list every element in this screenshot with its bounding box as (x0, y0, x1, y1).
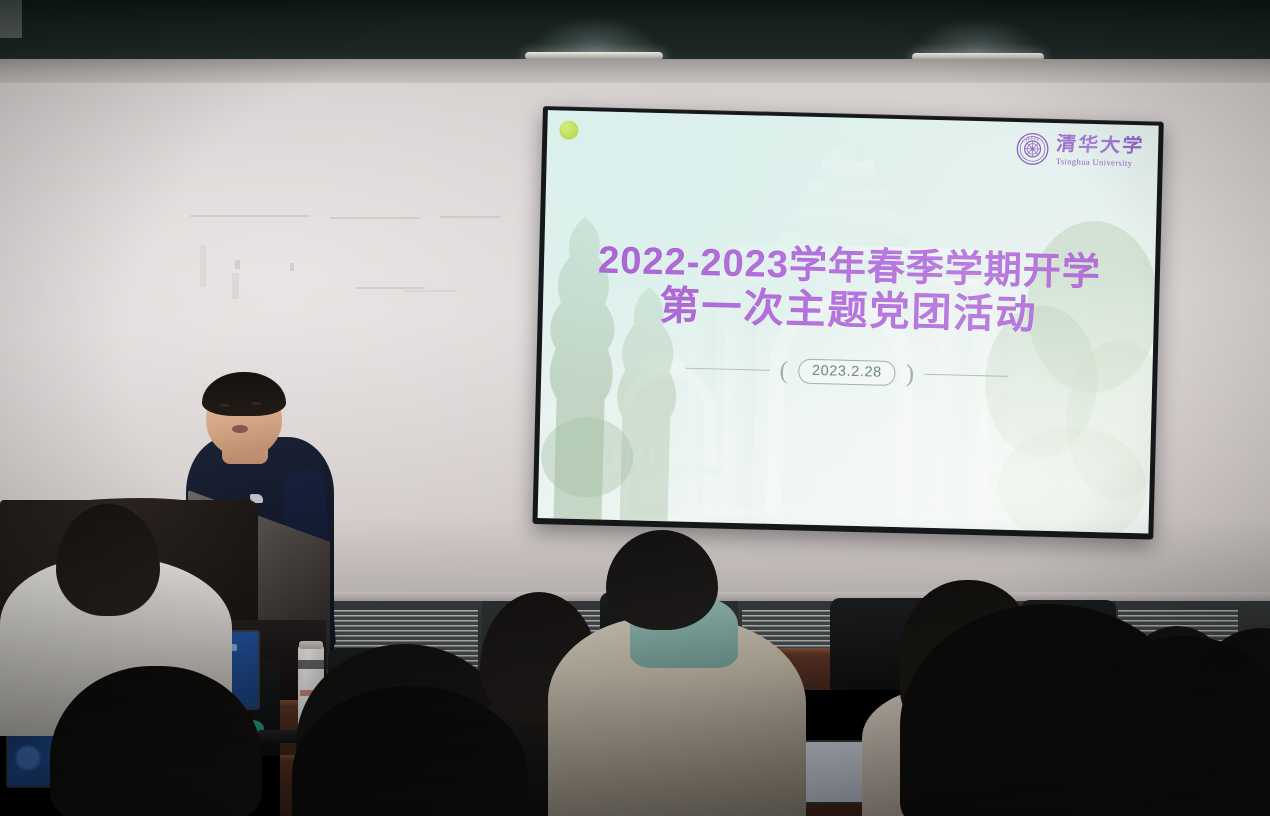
ceiling-soffit (0, 0, 1270, 60)
bottle-cap (299, 641, 323, 649)
projection-screen: 清华大学 Tsinghua University 2022-2023学年春季学期… (532, 106, 1163, 540)
speaker-eye-right (252, 402, 261, 405)
audience-member (548, 566, 810, 816)
soffit-left-return (0, 0, 22, 38)
date-paren-left: ( (779, 358, 788, 383)
date-paren-right: ) (905, 361, 914, 386)
tsinghua-logo: 清华大学 Tsinghua University (1016, 132, 1145, 168)
audience-head (1072, 636, 1270, 816)
classroom-photo-scene: 清华大学 Tsinghua University 2022-2023学年春季学期… (0, 0, 1270, 816)
audience-head (50, 666, 262, 816)
speaker-eye-left (220, 404, 229, 407)
presentation-slide: 清华大学 Tsinghua University 2022-2023学年春季学期… (538, 110, 1159, 533)
speaker-mouth (232, 425, 248, 433)
wall-scuff-marks (180, 215, 500, 345)
logo-chinese-name: 清华大学 (1055, 134, 1145, 156)
logo-english-name: Tsinghua University (1056, 157, 1133, 167)
right-trees (979, 184, 1158, 533)
tsinghua-seal-icon (1016, 132, 1050, 166)
slide-title-block: 2022-2023学年春季学期开学 第一次主题党团活动 (542, 238, 1155, 341)
screen-bezel: 清华大学 Tsinghua University 2022-2023学年春季学期… (532, 106, 1163, 540)
slide-date: 2023.2.28 (798, 359, 897, 386)
audience-member (28, 686, 278, 816)
audience-head (292, 686, 528, 816)
date-rule-right (924, 374, 1008, 377)
soffit-shadow-band (0, 59, 1270, 83)
audience-member-foreground (1072, 636, 1270, 816)
date-rule-left (686, 368, 770, 371)
audience-member-foreground (292, 696, 532, 816)
logo-wordmark: 清华大学 Tsinghua University (1056, 134, 1145, 168)
